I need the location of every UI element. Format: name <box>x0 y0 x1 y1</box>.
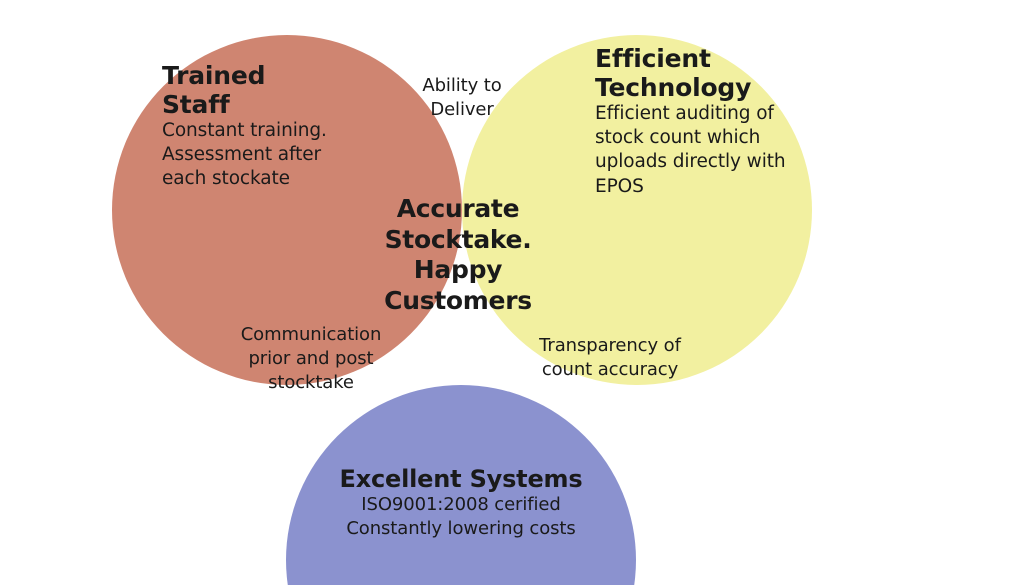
set-body-efficient-technology: Efficient auditing of stock count which … <box>595 102 810 199</box>
set-label-efficient-technology: Efficient Technology Efficient auditing … <box>595 45 810 199</box>
intersection-label-communication: Communication prior and post stocktake <box>233 323 389 394</box>
intersection-label-transparency: Transparency of count accuracy <box>529 334 691 382</box>
set-body-trained-staff: Constant training. Assessment after each… <box>162 119 372 192</box>
intersection-label-ability-to-deliver: Ability to Deliver <box>388 74 536 122</box>
set-label-trained-staff: Trained Staff Constant training. Assessm… <box>162 62 372 192</box>
set-label-excellent-systems: Excellent Systems ISO9001:2008 cerified … <box>301 466 621 540</box>
set-title-trained-staff: Trained Staff <box>162 62 372 119</box>
set-title-efficient-technology: Efficient Technology <box>595 45 810 102</box>
intersection-label-center: Accurate Stocktake. Happy Customers <box>372 194 544 316</box>
venn-diagram: Trained Staff Constant training. Assessm… <box>0 0 1024 585</box>
set-body-excellent-systems: ISO9001:2008 cerified Constantly lowerin… <box>301 493 621 540</box>
set-title-excellent-systems: Excellent Systems <box>301 466 621 493</box>
